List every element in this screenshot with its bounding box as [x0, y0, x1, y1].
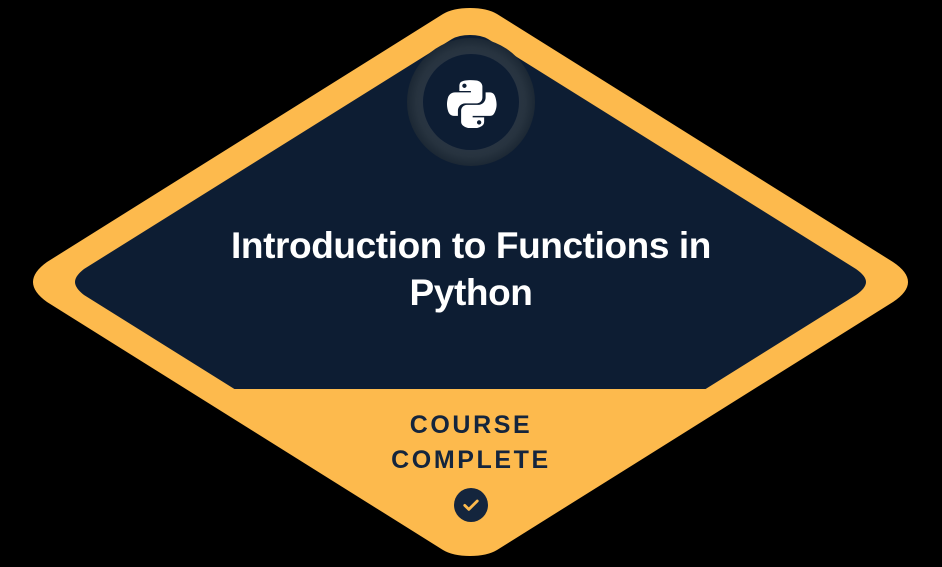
badge-stage: Introduction to Functions in Python COUR… [0, 0, 942, 567]
diamond-shape [0, 0, 942, 567]
